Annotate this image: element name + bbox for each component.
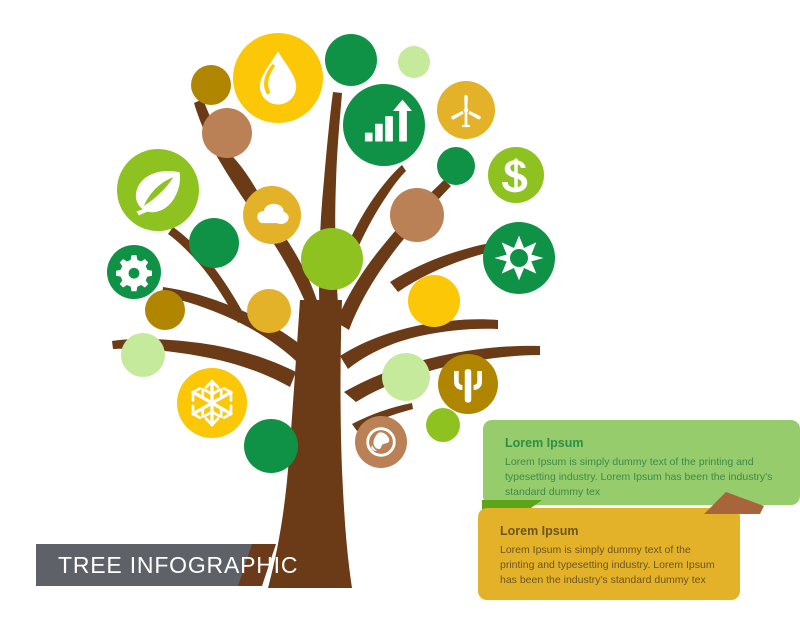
callout-yellow-fold-icon [704,492,764,514]
icon-circle-leaf[interactable] [117,149,199,231]
icon-circle-water-drop[interactable] [233,33,323,123]
gear-center-hole [129,268,140,279]
callout-yellow-title: Lorem Ipsum [500,524,718,540]
branch-center [319,92,342,332]
decorative-circle [145,290,185,330]
decorative-circle [121,333,165,377]
decorative-circle [398,46,430,78]
icon-circle-globe[interactable] [355,416,407,468]
icon-circle-background [117,149,199,231]
icon-circle-cactus[interactable] [438,354,498,414]
icon-circle-gear[interactable] [107,245,161,299]
decorative-circle [244,419,298,473]
decorative-circle [191,65,231,105]
title-banner: TREE INFOGRAPHIC [36,544,276,586]
callout-yellow[interactable]: Lorem Ipsum Lorem Ipsum is simply dummy … [478,508,740,600]
decorative-circle [325,34,377,86]
decorative-circle [202,108,252,158]
decorative-circle [301,228,363,290]
icon-circle-sun[interactable] [483,222,555,294]
decorative-circle [408,275,460,327]
icon-circle-dollar[interactable] [488,147,544,203]
decorative-circle [390,188,444,242]
icon-circle-background [343,84,425,166]
icon-circle-cloud[interactable] [243,186,301,244]
callout-green-title: Lorem Ipsum [505,436,778,452]
decorative-circle [382,353,430,401]
infographic-canvas: TREE INFOGRAPHIC Lorem Ipsum Lorem Ipsum… [0,0,800,623]
sun-center-hole [510,249,528,267]
icon-circle-snowflake[interactable] [177,368,247,438]
decorative-circle [426,408,460,442]
decorative-circle [437,147,475,185]
icon-circle-growth-chart[interactable] [343,84,425,166]
page-title: TREE INFOGRAPHIC [58,544,298,586]
callout-yellow-body: Lorem Ipsum is simply dummy text of the … [500,543,718,589]
decorative-circle [189,218,239,268]
decorative-circle [247,289,291,333]
icon-circle-wind-turbine[interactable] [437,81,495,139]
